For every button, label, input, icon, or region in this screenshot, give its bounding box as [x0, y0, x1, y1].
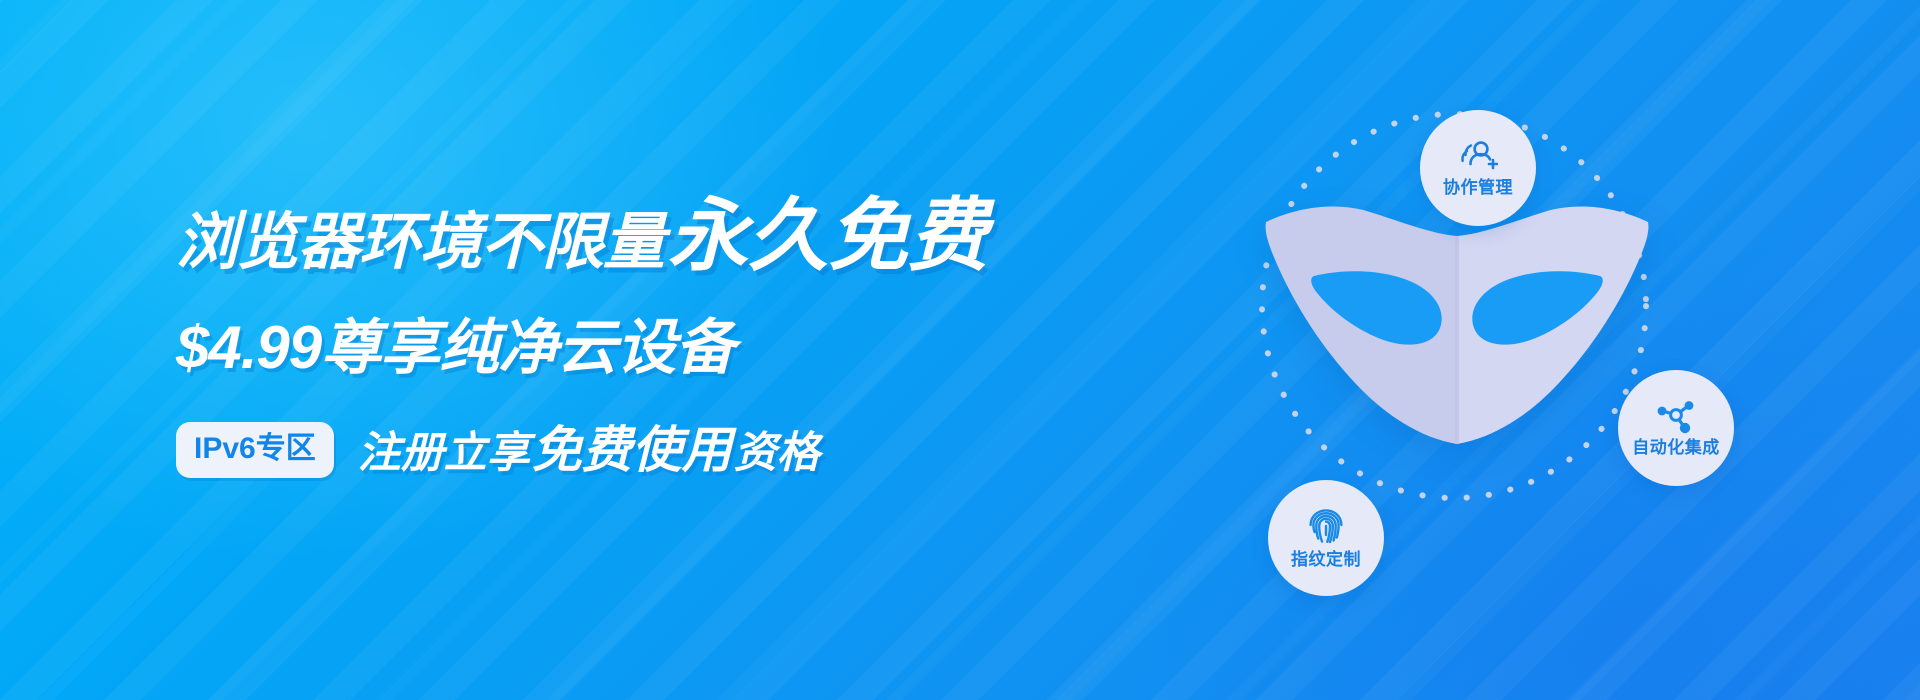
user-add-icon [1458, 140, 1498, 174]
feature-chip-automation[interactable]: 自动化集成 [1618, 370, 1734, 486]
headline-line-3-part-1: 注册立享 [358, 432, 530, 475]
promo-banner: 浏览器环境不限量 永久免费 $4.99尊享纯净云设备 IPv6专区 注册立享 免… [0, 0, 1920, 700]
ipv6-zone-badge[interactable]: IPv6专区 [176, 422, 334, 478]
headline-line-1: 浏览器环境不限量 永久免费 [176, 196, 1176, 282]
headline-block: 浏览器环境不限量 永久免费 $4.99尊享纯净云设备 IPv6专区 注册立享 免… [176, 196, 1176, 478]
headline-line-3: IPv6专区 注册立享 免费使用 资格 [176, 422, 1176, 478]
headline-line-3-part-2: 免费使用 [532, 425, 732, 475]
headline-line-3-text: 注册立享 免费使用 资格 [358, 425, 820, 475]
feature-chip-automation-label: 自动化集成 [1632, 439, 1720, 456]
feature-chip-fingerprint-label: 指纹定制 [1291, 551, 1361, 568]
feature-chip-fingerprint[interactable]: 指纹定制 [1268, 480, 1384, 596]
headline-line-3-part-3: 资格 [734, 432, 820, 475]
headline-line-1-normal: 浏览器环境不限量 [176, 212, 664, 274]
feature-chip-collab-label: 协作管理 [1443, 179, 1513, 196]
fingerprint-icon [1308, 508, 1344, 546]
masquerade-mask-icon [1260, 200, 1654, 450]
headline-line-2: $4.99尊享纯净云设备 [176, 318, 1176, 378]
feature-chip-collab[interactable]: 协作管理 [1420, 110, 1536, 226]
headline-line-1-emphasis: 永久免费 [668, 196, 988, 276]
share-nodes-icon [1657, 400, 1695, 434]
feature-illustration: 协作管理 自动化集成 [1230, 70, 1830, 630]
